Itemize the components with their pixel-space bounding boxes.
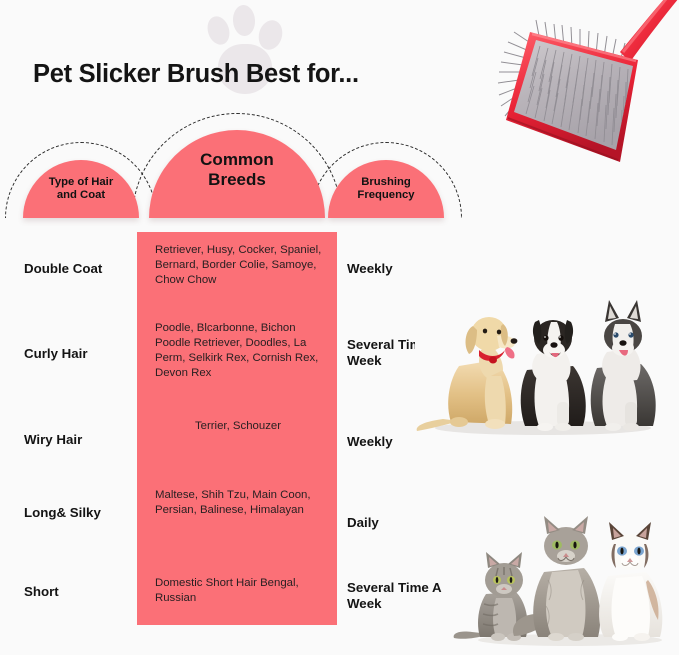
header-freq-line2: Frequency <box>326 189 446 202</box>
row-frequency-value: Weekly <box>347 261 465 277</box>
row-type-label: Wiry Hair <box>24 432 136 448</box>
slicker-brush-photo <box>470 0 679 180</box>
header-brushing-frequency: Brushing Frequency <box>326 176 446 203</box>
row-type-label: Short <box>24 584 136 600</box>
column-headers: Type of Hair and Coat Common Breeds Brus… <box>0 120 470 230</box>
header-type-line1: Type of Hair <box>21 176 141 189</box>
page-title: Pet Slicker Brush Best for... <box>33 60 359 89</box>
header-type-line2: and Coat <box>21 189 141 202</box>
header-freq-line1: Brushing <box>326 176 446 189</box>
row-type-label: Double Coat <box>24 261 136 277</box>
header-type-of-hair: Type of Hair and Coat <box>21 176 141 203</box>
header-common-breeds: Common Breeds <box>147 150 327 190</box>
row-breeds-value: Domestic Short Hair Bengal, Russian <box>155 576 327 606</box>
three-cats-photo <box>452 510 678 648</box>
row-breeds-value: Maltese, Shih Tzu, Main Coon, Persian, B… <box>155 488 327 518</box>
three-dogs-photo <box>415 288 673 436</box>
infographic-root: Pet Slicker Brush Best for... Type of Ha… <box>0 0 679 655</box>
row-frequency-value: Several Time A Week <box>347 580 465 612</box>
row-frequency-value: Weekly <box>347 434 465 450</box>
row-type-label: Curly Hair <box>24 346 136 362</box>
row-breeds-value: Terrier, Schouzer <box>145 419 331 434</box>
row-breeds-value: Poodle, Blcarbonne, Bichon Poodle Retrie… <box>155 321 327 382</box>
row-frequency-value: Daily <box>347 515 465 531</box>
row-type-label: Long& Silky <box>24 505 136 521</box>
header-breeds-line1: Common <box>147 150 327 170</box>
row-breeds-value: Retriever, Husy, Cocker, Spaniel, Bernar… <box>155 243 327 288</box>
header-breeds-line2: Breeds <box>147 170 327 190</box>
